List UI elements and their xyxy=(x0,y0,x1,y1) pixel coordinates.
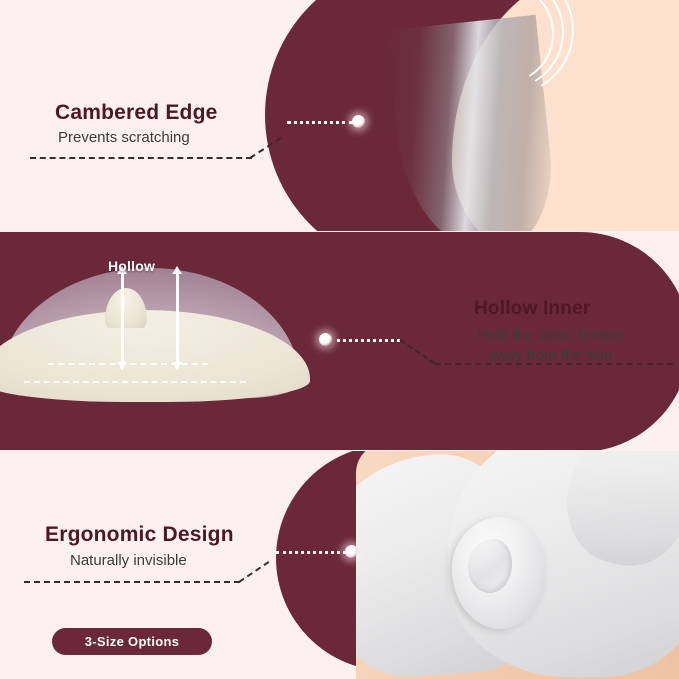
panel-2-subtitle-line-2: away from the skin xyxy=(487,347,612,364)
panel-3-leader-line-diagonal xyxy=(238,561,269,583)
panel-2-subtitle-line-1: Hold the fabric friction xyxy=(477,327,622,344)
panel-3-subtitle: Naturally invisible xyxy=(70,552,187,569)
hollow-diagram-label: Hollow xyxy=(108,258,155,274)
panel-1-subtitle: Prevents scratching xyxy=(58,129,190,146)
hollow-guide-line-lower xyxy=(24,381,246,383)
panel-1-leader-line-white xyxy=(287,121,353,124)
panel-3-leader-line-horizontal xyxy=(24,581,240,583)
panel-1-leader-line-horizontal xyxy=(30,157,252,159)
panel-3-leader-line-white xyxy=(276,551,346,554)
hollow-height-arrow-left xyxy=(121,273,124,363)
nipple-cover-fold-detail xyxy=(468,539,512,593)
ergonomic-design-callout-dot[interactable] xyxy=(345,545,358,558)
panel-3-title: Ergonomic Design xyxy=(45,523,234,547)
panel-2-title: Hollow Inner xyxy=(474,298,590,320)
cambered-edge-callout-dot[interactable] xyxy=(352,115,365,128)
panel-1-title: Cambered Edge xyxy=(55,101,217,125)
model-photo xyxy=(356,451,679,679)
panel-2-leader-line-white xyxy=(337,339,400,342)
hollow-height-arrow-right xyxy=(176,273,179,363)
size-options-badge-label: 3-Size Options xyxy=(85,634,180,649)
panel-hollow-inner: Hollow Hollow Inner Hold the fabric fric… xyxy=(0,232,679,450)
size-options-badge[interactable]: 3-Size Options xyxy=(52,628,212,655)
hollow-inner-callout-dot[interactable] xyxy=(319,333,332,346)
nipple-cover-on-garment xyxy=(452,517,546,629)
panel-cambered-edge: Cambered Edge Prevents scratching xyxy=(0,0,679,231)
feature-infographic: Cambered Edge Prevents scratching Hollow… xyxy=(0,0,679,679)
hollow-guide-line-upper xyxy=(48,363,208,365)
